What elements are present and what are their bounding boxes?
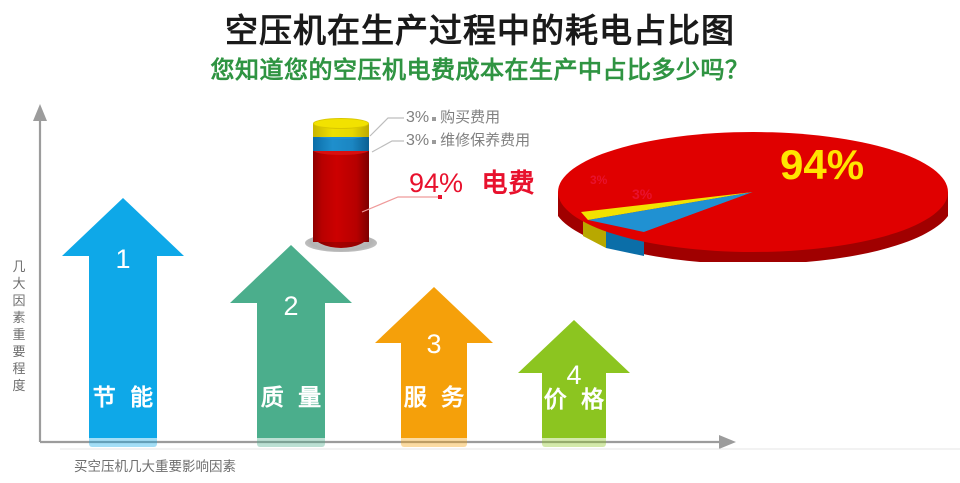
pie-label-blue-3: 3% xyxy=(632,187,652,201)
pie-label-yellow-3: 3% xyxy=(590,174,607,186)
cylinder-yellow-top-ellipse xyxy=(313,118,369,129)
callout-maintenance-dot xyxy=(432,140,436,144)
callout-purchase-dot xyxy=(432,117,436,121)
factor-rank-2: 2 xyxy=(230,293,352,320)
factor-label-1: 节 能 xyxy=(62,386,184,409)
factor-label-3: 服 务 xyxy=(375,386,493,409)
callout-maintenance: 3%维修保养费用 xyxy=(406,133,530,149)
arrow-reflection-3 xyxy=(401,438,467,447)
factor-rank-1: 1 xyxy=(62,246,184,273)
callout-purchase-text: 购买费用 xyxy=(440,109,500,126)
y-axis-label: 几大因素重要程度 xyxy=(8,258,30,394)
pie-label-94: 94% xyxy=(780,144,864,186)
pie-shape xyxy=(548,112,958,262)
factor-arrow-2[interactable]: 2 质 量 xyxy=(230,245,352,438)
arrow-reflection-2 xyxy=(257,438,325,447)
y-axis-arrowhead xyxy=(33,104,47,121)
factor-label-2: 质 量 xyxy=(230,386,352,409)
factor-arrow-3[interactable]: 3 服 务 xyxy=(375,287,493,438)
infographic-canvas: 空压机在生产过程中的耗电占比图 您知道您的空压机电费成本在生产中占比多少吗？ 几… xyxy=(0,0,960,483)
factor-arrow-4[interactable]: 4 价 格 xyxy=(518,320,630,438)
x-axis-arrowhead xyxy=(719,435,736,449)
callout-electricity: 94% 电费 xyxy=(409,170,536,197)
arrow-shape-3 xyxy=(375,287,493,438)
callout-electricity-text: 电费 xyxy=(482,168,536,198)
callout-maintenance-text: 维修保养费用 xyxy=(440,132,530,149)
arrow-reflection-4 xyxy=(542,438,606,447)
cylinder-segment-electricity[interactable] xyxy=(313,150,369,242)
stacked-cylinder-chart xyxy=(305,122,377,254)
callout-electricity-pct: 94% xyxy=(409,168,463,198)
factor-arrow-1[interactable]: 1 节 能 xyxy=(62,198,184,438)
callout-purchase: 3%购买费用 xyxy=(406,110,500,126)
callout-maintenance-pct: 3% xyxy=(406,132,429,149)
pie-chart-3d: 94% 3% 3% xyxy=(548,112,958,262)
arrow-reflection-1 xyxy=(89,438,157,447)
callout-purchase-pct: 3% xyxy=(406,109,429,126)
factor-rank-3: 3 xyxy=(375,331,493,358)
x-axis-label: 买空压机几大重要影响因素 xyxy=(74,455,236,475)
factor-label-4: 价 格 xyxy=(518,388,630,411)
factor-rank-4: 4 xyxy=(518,362,630,389)
